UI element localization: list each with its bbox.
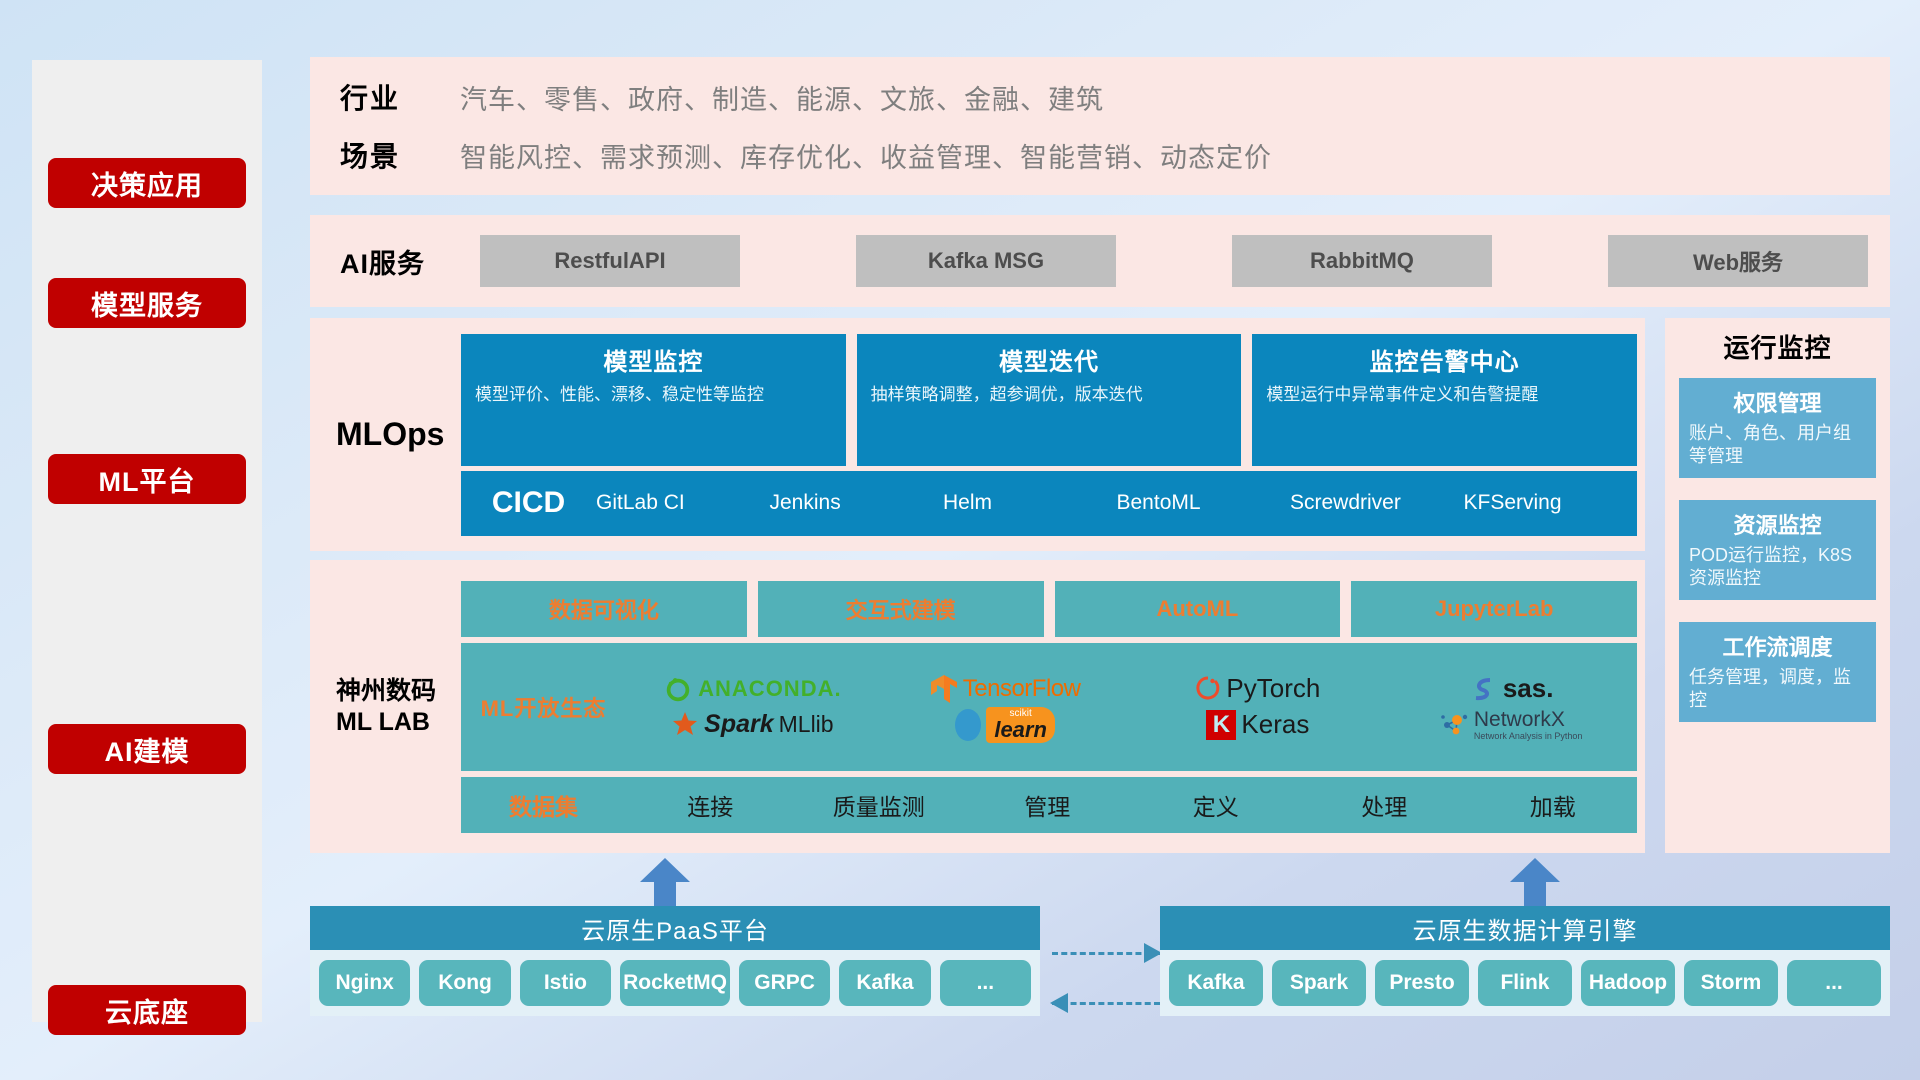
cicd-bar: CICD GitLab CI Jenkins Helm BentoML Scre… — [461, 471, 1637, 536]
networkx-subtitle: Network Analysis in Python — [1474, 732, 1583, 741]
ai-service-items: RestfulAPI Kafka MSG RabbitMQ Web服务 — [480, 235, 1890, 287]
card-title: 工作流调度 — [1689, 630, 1866, 662]
industry-values: 汽车、零售、政府、制造、能源、文旅、金融、建筑 — [460, 78, 1104, 117]
tool-automl[interactable]: AutoML — [1055, 581, 1341, 637]
spark-mllib-logo: Spark MLlib — [671, 710, 833, 739]
paas-chip-kong[interactable]: Kong — [419, 960, 510, 1006]
anaconda-mark-icon — [663, 674, 693, 704]
paas-chips: Nginx Kong Istio RocketMQ GRPC Kafka ... — [310, 950, 1040, 1016]
card-title: 模型监控 — [475, 342, 832, 377]
ml-lab-panel: 神州数码 ML LAB 数据可视化 交互式建模 AutoML JupyterLa… — [310, 560, 1645, 853]
mlops-content: 模型监控 模型评价、性能、漂移、稳定性等监控 模型迭代 抽样策略调整，超参调优，… — [461, 318, 1645, 551]
ai-service-label: AI服务 — [340, 242, 480, 281]
mlops-card-list: 模型监控 模型评价、性能、漂移、稳定性等监控 模型迭代 抽样策略调整，超参调优，… — [461, 334, 1637, 466]
engine-chip-kafka[interactable]: Kafka — [1169, 960, 1263, 1006]
cicd-item-gitlab-ci[interactable]: GitLab CI — [596, 492, 770, 514]
anaconda-wordmark: ANACONDA. — [698, 676, 841, 702]
dataset-item-load[interactable]: 加载 — [1469, 788, 1638, 822]
dataset-band: 数据集 连接 质量监测 管理 定义 处理 加载 — [461, 777, 1637, 833]
rail-item-ml-platform[interactable]: ML平台 — [48, 454, 246, 504]
engine-chip-more[interactable]: ... — [1787, 960, 1881, 1006]
data-engine-header: 云原生数据计算引擎 — [1160, 906, 1890, 950]
paas-chip-more[interactable]: ... — [940, 960, 1031, 1006]
ml-ecosystem-logos: ANACONDA. TensorFlow PyTorch — [626, 671, 1637, 743]
runtime-monitor-panel: 运行监控 权限管理 账户、角色、用户组等管理 资源监控 POD运行监控，K8S资… — [1665, 318, 1890, 853]
ai-service-web[interactable]: Web服务 — [1608, 235, 1868, 287]
cicd-label: CICD — [461, 486, 596, 520]
card-desc: 账户、角色、用户组等管理 — [1689, 422, 1866, 468]
dashed-arrow-right-icon — [1052, 952, 1160, 954]
dataset-item-connect[interactable]: 连接 — [626, 788, 795, 822]
tensorflow-mark-icon — [930, 673, 958, 705]
dataset-item-manage[interactable]: 管理 — [963, 788, 1132, 822]
pytorch-wordmark: PyTorch — [1226, 673, 1320, 704]
monitor-card-workflow[interactable]: 工作流调度 任务管理，调度，监控 — [1679, 622, 1876, 722]
spark-star-icon — [671, 711, 699, 739]
card-desc: POD运行监控，K8S资源监控 — [1689, 544, 1866, 590]
ml-lab-label-line1: 神州数码 — [336, 676, 461, 707]
ml-lab-content: 数据可视化 交互式建模 AutoML JupyterLab ML开放生态 ANA… — [461, 560, 1645, 853]
runtime-monitor-title: 运行监控 — [1679, 328, 1876, 365]
paas-chip-istio[interactable]: Istio — [520, 960, 611, 1006]
engine-chip-storm[interactable]: Storm — [1684, 960, 1778, 1006]
engine-chip-flink[interactable]: Flink — [1478, 960, 1572, 1006]
dataset-item-quality-monitoring[interactable]: 质量监测 — [795, 788, 964, 822]
rail-item-model-service[interactable]: 模型服务 — [48, 278, 246, 328]
engine-chip-presto[interactable]: Presto — [1375, 960, 1469, 1006]
ml-lab-label-line2: ML LAB — [336, 707, 461, 738]
card-desc: 模型评价、性能、漂移、稳定性等监控 — [475, 384, 832, 406]
spark-wordmark: Spark — [704, 710, 773, 739]
tool-interactive-modeling[interactable]: 交互式建模 — [758, 581, 1044, 637]
data-engine-chips: Kafka Spark Presto Flink Hadoop Storm ..… — [1160, 950, 1890, 1016]
card-title: 模型迭代 — [871, 342, 1228, 377]
ai-service-panel: AI服务 RestfulAPI Kafka MSG RabbitMQ Web服务 — [310, 215, 1890, 307]
mllib-wordmark: MLlib — [779, 711, 834, 738]
ai-service-restfulapi[interactable]: RestfulAPI — [480, 235, 740, 287]
ai-service-kafka-msg[interactable]: Kafka MSG — [856, 235, 1116, 287]
dataset-label: 数据集 — [461, 788, 626, 822]
paas-header: 云原生PaaS平台 — [310, 906, 1040, 950]
ml-ecosystem-label: ML开放生态 — [461, 691, 626, 723]
dataset-item-process[interactable]: 处理 — [1300, 788, 1469, 822]
networkx-title: NetworkX — [1474, 708, 1565, 731]
cicd-item-screwdriver[interactable]: Screwdriver — [1290, 492, 1464, 514]
card-desc: 抽样策略调整，超参调优，版本迭代 — [871, 384, 1228, 406]
ml-ecosystem-band: ML开放生态 ANACONDA. TensorFlow — [461, 643, 1637, 771]
dashed-arrow-left-icon — [1052, 1002, 1160, 1004]
scikit-learn-logo: scikit learn — [955, 707, 1055, 743]
paas-chip-rocketmq[interactable]: RocketMQ — [620, 960, 730, 1006]
paas-chip-nginx[interactable]: Nginx — [319, 960, 410, 1006]
scenario-values: 智能风控、需求预测、库存优化、收益管理、智能营销、动态定价 — [460, 136, 1272, 175]
scikit-badge: scikit learn — [986, 707, 1055, 743]
arrow-up-to-engine-icon — [1510, 858, 1560, 906]
mlops-card-model-monitoring[interactable]: 模型监控 模型评价、性能、漂移、稳定性等监控 — [461, 334, 846, 466]
applications-row-industry: 行业 汽车、零售、政府、制造、能源、文旅、金融、建筑 — [340, 68, 1890, 126]
applications-panel: 行业 汽车、零售、政府、制造、能源、文旅、金融、建筑 场景 智能风控、需求预测、… — [310, 57, 1890, 195]
keras-wordmark: Keras — [1241, 709, 1309, 740]
sas-mark-icon — [1468, 674, 1498, 704]
layer-rail: 决策应用 模型服务 ML平台 AI建模 云底座 — [32, 60, 262, 1022]
tool-data-visualization[interactable]: 数据可视化 — [461, 581, 747, 637]
mlops-label: MLOps — [336, 416, 461, 453]
ml-lab-label: 神州数码 ML LAB — [336, 676, 461, 738]
cicd-items: GitLab CI Jenkins Helm BentoML Screwdriv… — [596, 492, 1637, 514]
keras-logo: K Keras — [1206, 709, 1309, 740]
tool-jupyterlab[interactable]: JupyterLab — [1351, 581, 1637, 637]
networkx-logo: NetworkX Network Analysis in Python — [1439, 708, 1583, 741]
card-title: 资源监控 — [1689, 508, 1866, 540]
mlops-card-model-iteration[interactable]: 模型迭代 抽样策略调整，超参调优，版本迭代 — [857, 334, 1242, 466]
networkx-wordmark: NetworkX Network Analysis in Python — [1474, 708, 1583, 741]
ml-lab-tools: 数据可视化 交互式建模 AutoML JupyterLab — [461, 581, 1637, 637]
card-desc: 模型运行中异常事件定义和告警提醒 — [1266, 384, 1623, 406]
monitor-card-permission[interactable]: 权限管理 账户、角色、用户组等管理 — [1679, 378, 1876, 478]
pytorch-logo: PyTorch — [1195, 673, 1320, 704]
scikit-blue-blob-icon — [955, 709, 981, 741]
dataset-item-define[interactable]: 定义 — [1132, 788, 1301, 822]
anaconda-logo: ANACONDA. — [663, 674, 841, 704]
applications-row-scenario: 场景 智能风控、需求预测、库存优化、收益管理、智能营销、动态定价 — [340, 126, 1890, 184]
paas-chip-grpc[interactable]: GRPC — [739, 960, 830, 1006]
data-engine-group: 云原生数据计算引擎 Kafka Spark Presto Flink Hadoo… — [1160, 906, 1890, 1016]
card-title: 权限管理 — [1689, 386, 1866, 418]
cicd-item-helm[interactable]: Helm — [943, 492, 1117, 514]
engine-chip-spark[interactable]: Spark — [1272, 960, 1366, 1006]
mlops-panel: MLOps 模型监控 模型评价、性能、漂移、稳定性等监控 模型迭代 抽样策略调整… — [310, 318, 1645, 551]
keras-mark-icon: K — [1206, 710, 1236, 740]
mlops-card-alert-center[interactable]: 监控告警中心 模型运行中异常事件定义和告警提醒 — [1252, 334, 1637, 466]
ai-service-rabbitmq[interactable]: RabbitMQ — [1232, 235, 1492, 287]
tensorflow-logo: TensorFlow — [930, 673, 1081, 705]
card-title: 监控告警中心 — [1266, 342, 1623, 377]
scikit-wordmark: learn — [994, 719, 1047, 741]
arrow-up-to-paas-icon — [640, 858, 690, 906]
paas-chip-kafka[interactable]: Kafka — [839, 960, 930, 1006]
networkx-mark-icon — [1439, 711, 1469, 739]
rail-item-ai-modeling[interactable]: AI建模 — [48, 724, 246, 774]
rail-item-cloud-base[interactable]: 云底座 — [48, 985, 246, 1035]
dataset-items: 连接 质量监测 管理 定义 处理 加载 — [626, 788, 1637, 822]
cicd-item-bentoml[interactable]: BentoML — [1117, 492, 1291, 514]
cicd-item-kfserving[interactable]: KFServing — [1464, 492, 1638, 514]
rail-item-decision-app[interactable]: 决策应用 — [48, 158, 246, 208]
industry-label: 行业 — [340, 77, 460, 117]
tensorflow-wordmark: TensorFlow — [963, 675, 1081, 703]
sas-logo: sas. — [1468, 673, 1554, 704]
scenario-label: 场景 — [340, 135, 460, 175]
monitor-card-resource[interactable]: 资源监控 POD运行监控，K8S资源监控 — [1679, 500, 1876, 600]
engine-chip-hadoop[interactable]: Hadoop — [1581, 960, 1675, 1006]
card-desc: 任务管理，调度，监控 — [1689, 666, 1866, 712]
paas-group: 云原生PaaS平台 Nginx Kong Istio RocketMQ GRPC… — [310, 906, 1040, 1016]
sas-wordmark: sas. — [1503, 673, 1554, 704]
cicd-item-jenkins[interactable]: Jenkins — [770, 492, 944, 514]
pytorch-mark-icon — [1195, 674, 1221, 704]
